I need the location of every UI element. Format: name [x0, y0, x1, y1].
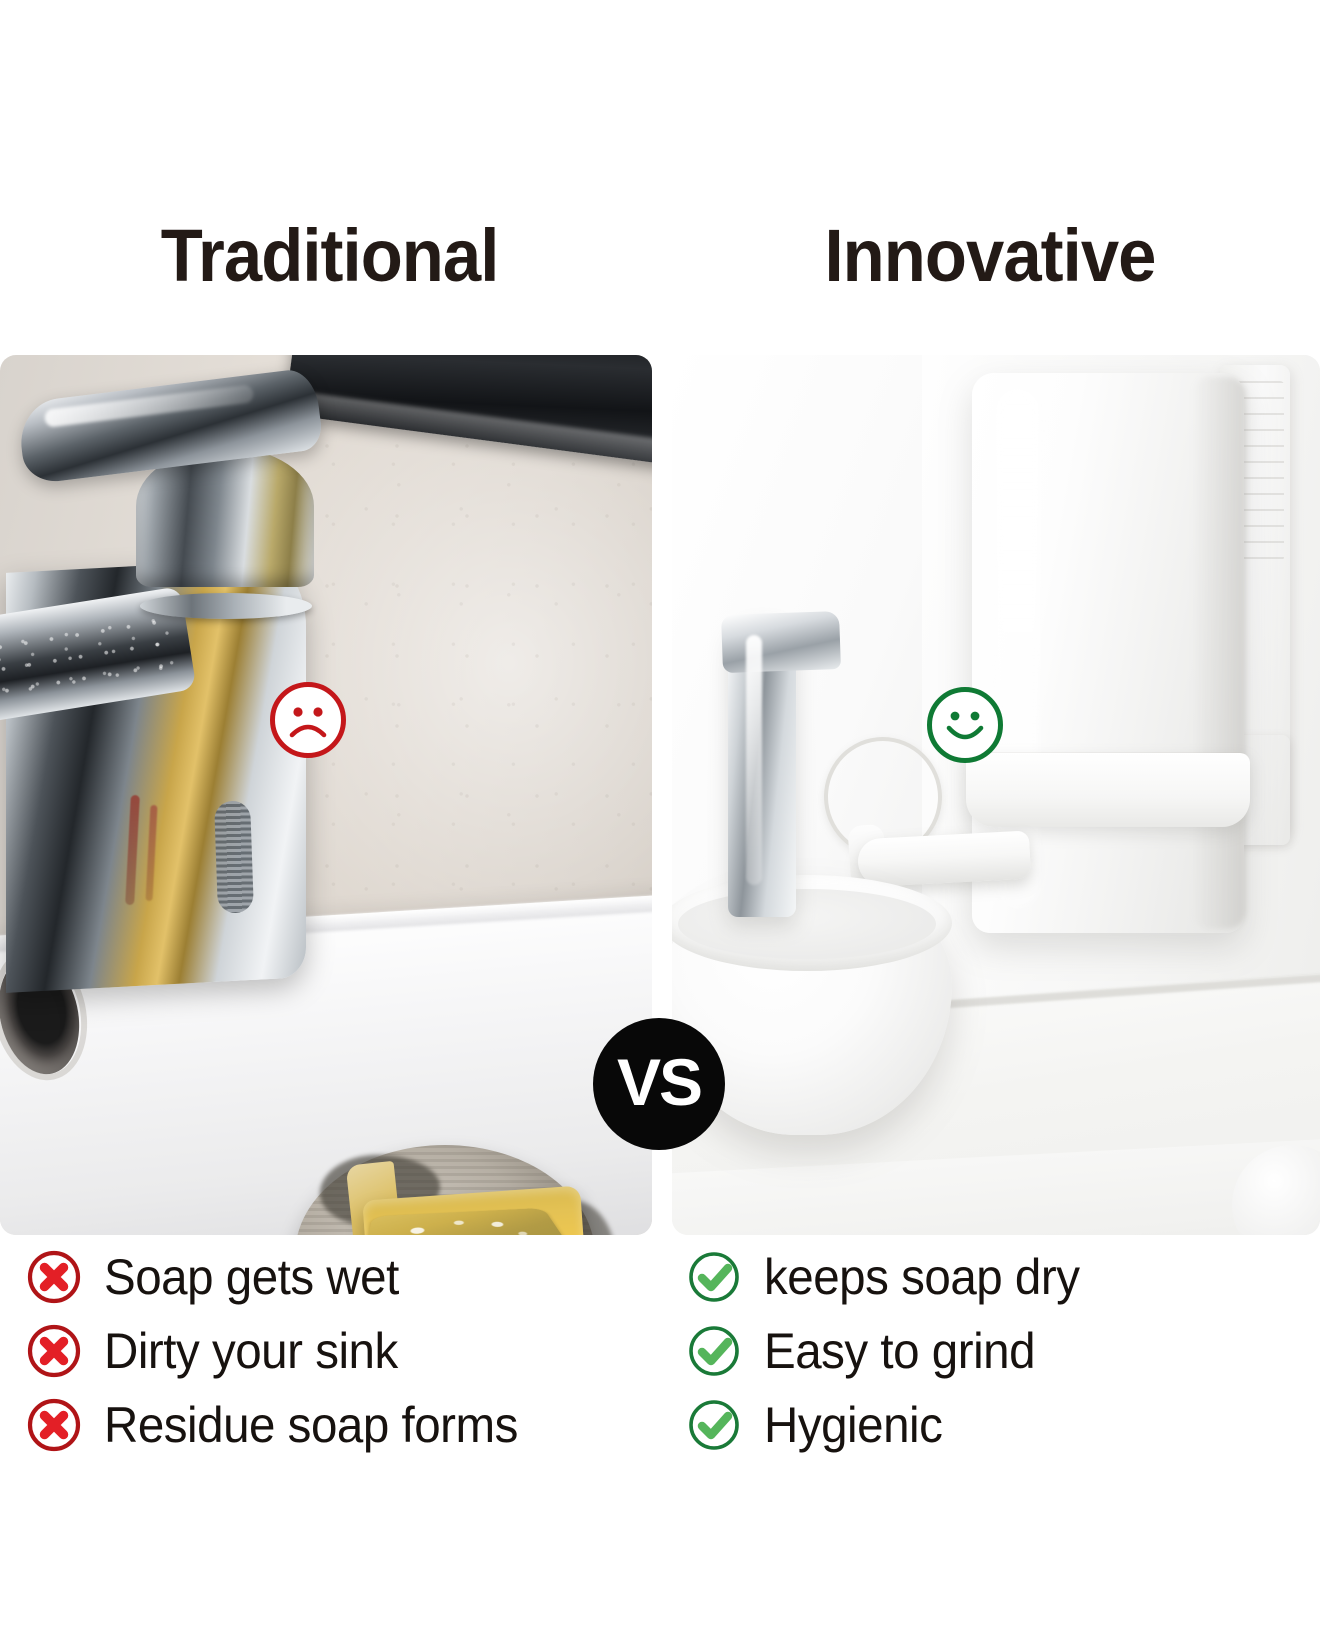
- cross-circle-icon: [26, 1249, 82, 1305]
- happy-face-icon: [927, 687, 1003, 763]
- check-circle-icon: [686, 1397, 742, 1453]
- list-item: Easy to grind: [686, 1314, 1320, 1388]
- photo-innovative-scene: [672, 355, 1320, 1235]
- list-item-label: keeps soap dry: [764, 1252, 1079, 1302]
- photo-traditional-scene: [0, 355, 652, 1235]
- list-item-label: Soap gets wet: [104, 1252, 399, 1302]
- list-item: Hygienic: [686, 1388, 1320, 1462]
- list-item-label: Hygienic: [764, 1400, 942, 1450]
- page-title-innovative: Innovative: [824, 219, 1155, 293]
- dispenser-shadow-edge: [1192, 377, 1246, 929]
- list-item: Residue soap forms: [26, 1388, 660, 1462]
- photo-traditional: [0, 355, 652, 1235]
- dispenser-lever-handle: [857, 831, 1031, 888]
- vessel-sink-basin: [678, 889, 936, 959]
- list-item-label: Dirty your sink: [104, 1326, 398, 1376]
- check-circle-icon: [686, 1323, 742, 1379]
- cross-circle-icon: [26, 1397, 82, 1453]
- pros-list: keeps soap dry Easy to grind Hygienic: [660, 1240, 1320, 1630]
- dispenser-collar: [966, 753, 1250, 827]
- cross-circle-icon: [26, 1323, 82, 1379]
- comparison-infographic: Traditional Innovative: [0, 0, 1320, 1630]
- cons-list: Soap gets wet Dirty your sink Residue so…: [0, 1240, 660, 1630]
- sad-face-icon: [270, 682, 346, 758]
- list-item: Soap gets wet: [26, 1240, 660, 1314]
- photo-panels: VS: [0, 355, 1320, 1235]
- faucet-spout-right: [721, 611, 841, 673]
- check-circle-icon: [686, 1249, 742, 1305]
- title-cell-right: Innovative: [660, 0, 1320, 355]
- faucet-collar-ring: [140, 593, 312, 619]
- vs-badge-label: VS: [617, 1049, 701, 1115]
- list-item-label: Residue soap forms: [104, 1400, 518, 1450]
- photo-innovative: [672, 355, 1320, 1235]
- faucet-highlight-right: [746, 635, 762, 885]
- list-item: Dirty your sink: [26, 1314, 660, 1388]
- vs-badge-icon: VS: [593, 1018, 725, 1150]
- titles-row: Traditional Innovative: [0, 0, 1320, 355]
- list-item: keeps soap dry: [686, 1240, 1320, 1314]
- title-cell-left: Traditional: [0, 0, 660, 355]
- list-item-label: Easy to grind: [764, 1326, 1035, 1376]
- faucet-knurled-texture: [214, 800, 254, 913]
- feature-lists: Soap gets wet Dirty your sink Residue so…: [0, 1240, 1320, 1630]
- page-title-traditional: Traditional: [161, 219, 499, 293]
